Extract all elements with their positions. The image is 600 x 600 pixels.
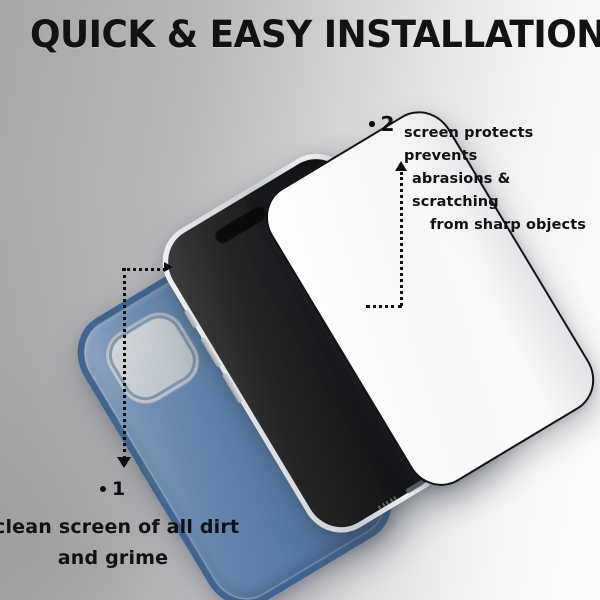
callout-1-arrowhead-right [164,262,173,272]
page-title: QUICK & EASY INSTALLATION [30,13,600,56]
callout-2-leader-vertical [400,172,403,306]
callout-1-number: 1 [112,478,125,500]
callout-1-leader-horizontal [122,268,166,271]
callout-1-line-2: and grime [0,543,262,574]
callout-2-line-2: abrasions & scratching [404,168,600,214]
speaker-grille-left [378,496,397,510]
callout-1-line-1: clean screen of all dirt [0,512,262,543]
infographic-canvas: QUICK & EASY INSTALLATION [0,0,600,600]
callout-1-text: clean screen of all dirt and grime [0,512,262,574]
callout-2-marker: 2 [369,112,394,136]
callout-1-leader-vertical [123,268,126,459]
callout-2-line-1: screen protects prevents [404,122,600,168]
callout-1-marker: 1 [100,478,125,500]
callout-1-arrowhead-down [117,457,131,468]
callout-2-line-3: from sharp objects [404,214,600,237]
callout-2-number: 2 [381,112,395,136]
callout-2-leader-horizontal [366,305,402,308]
callout-2-text: screen protects prevents abrasions & scr… [404,122,600,237]
bullet-dot-icon [100,486,106,492]
bullet-dot-icon [369,121,375,127]
product-stack [0,0,600,600]
